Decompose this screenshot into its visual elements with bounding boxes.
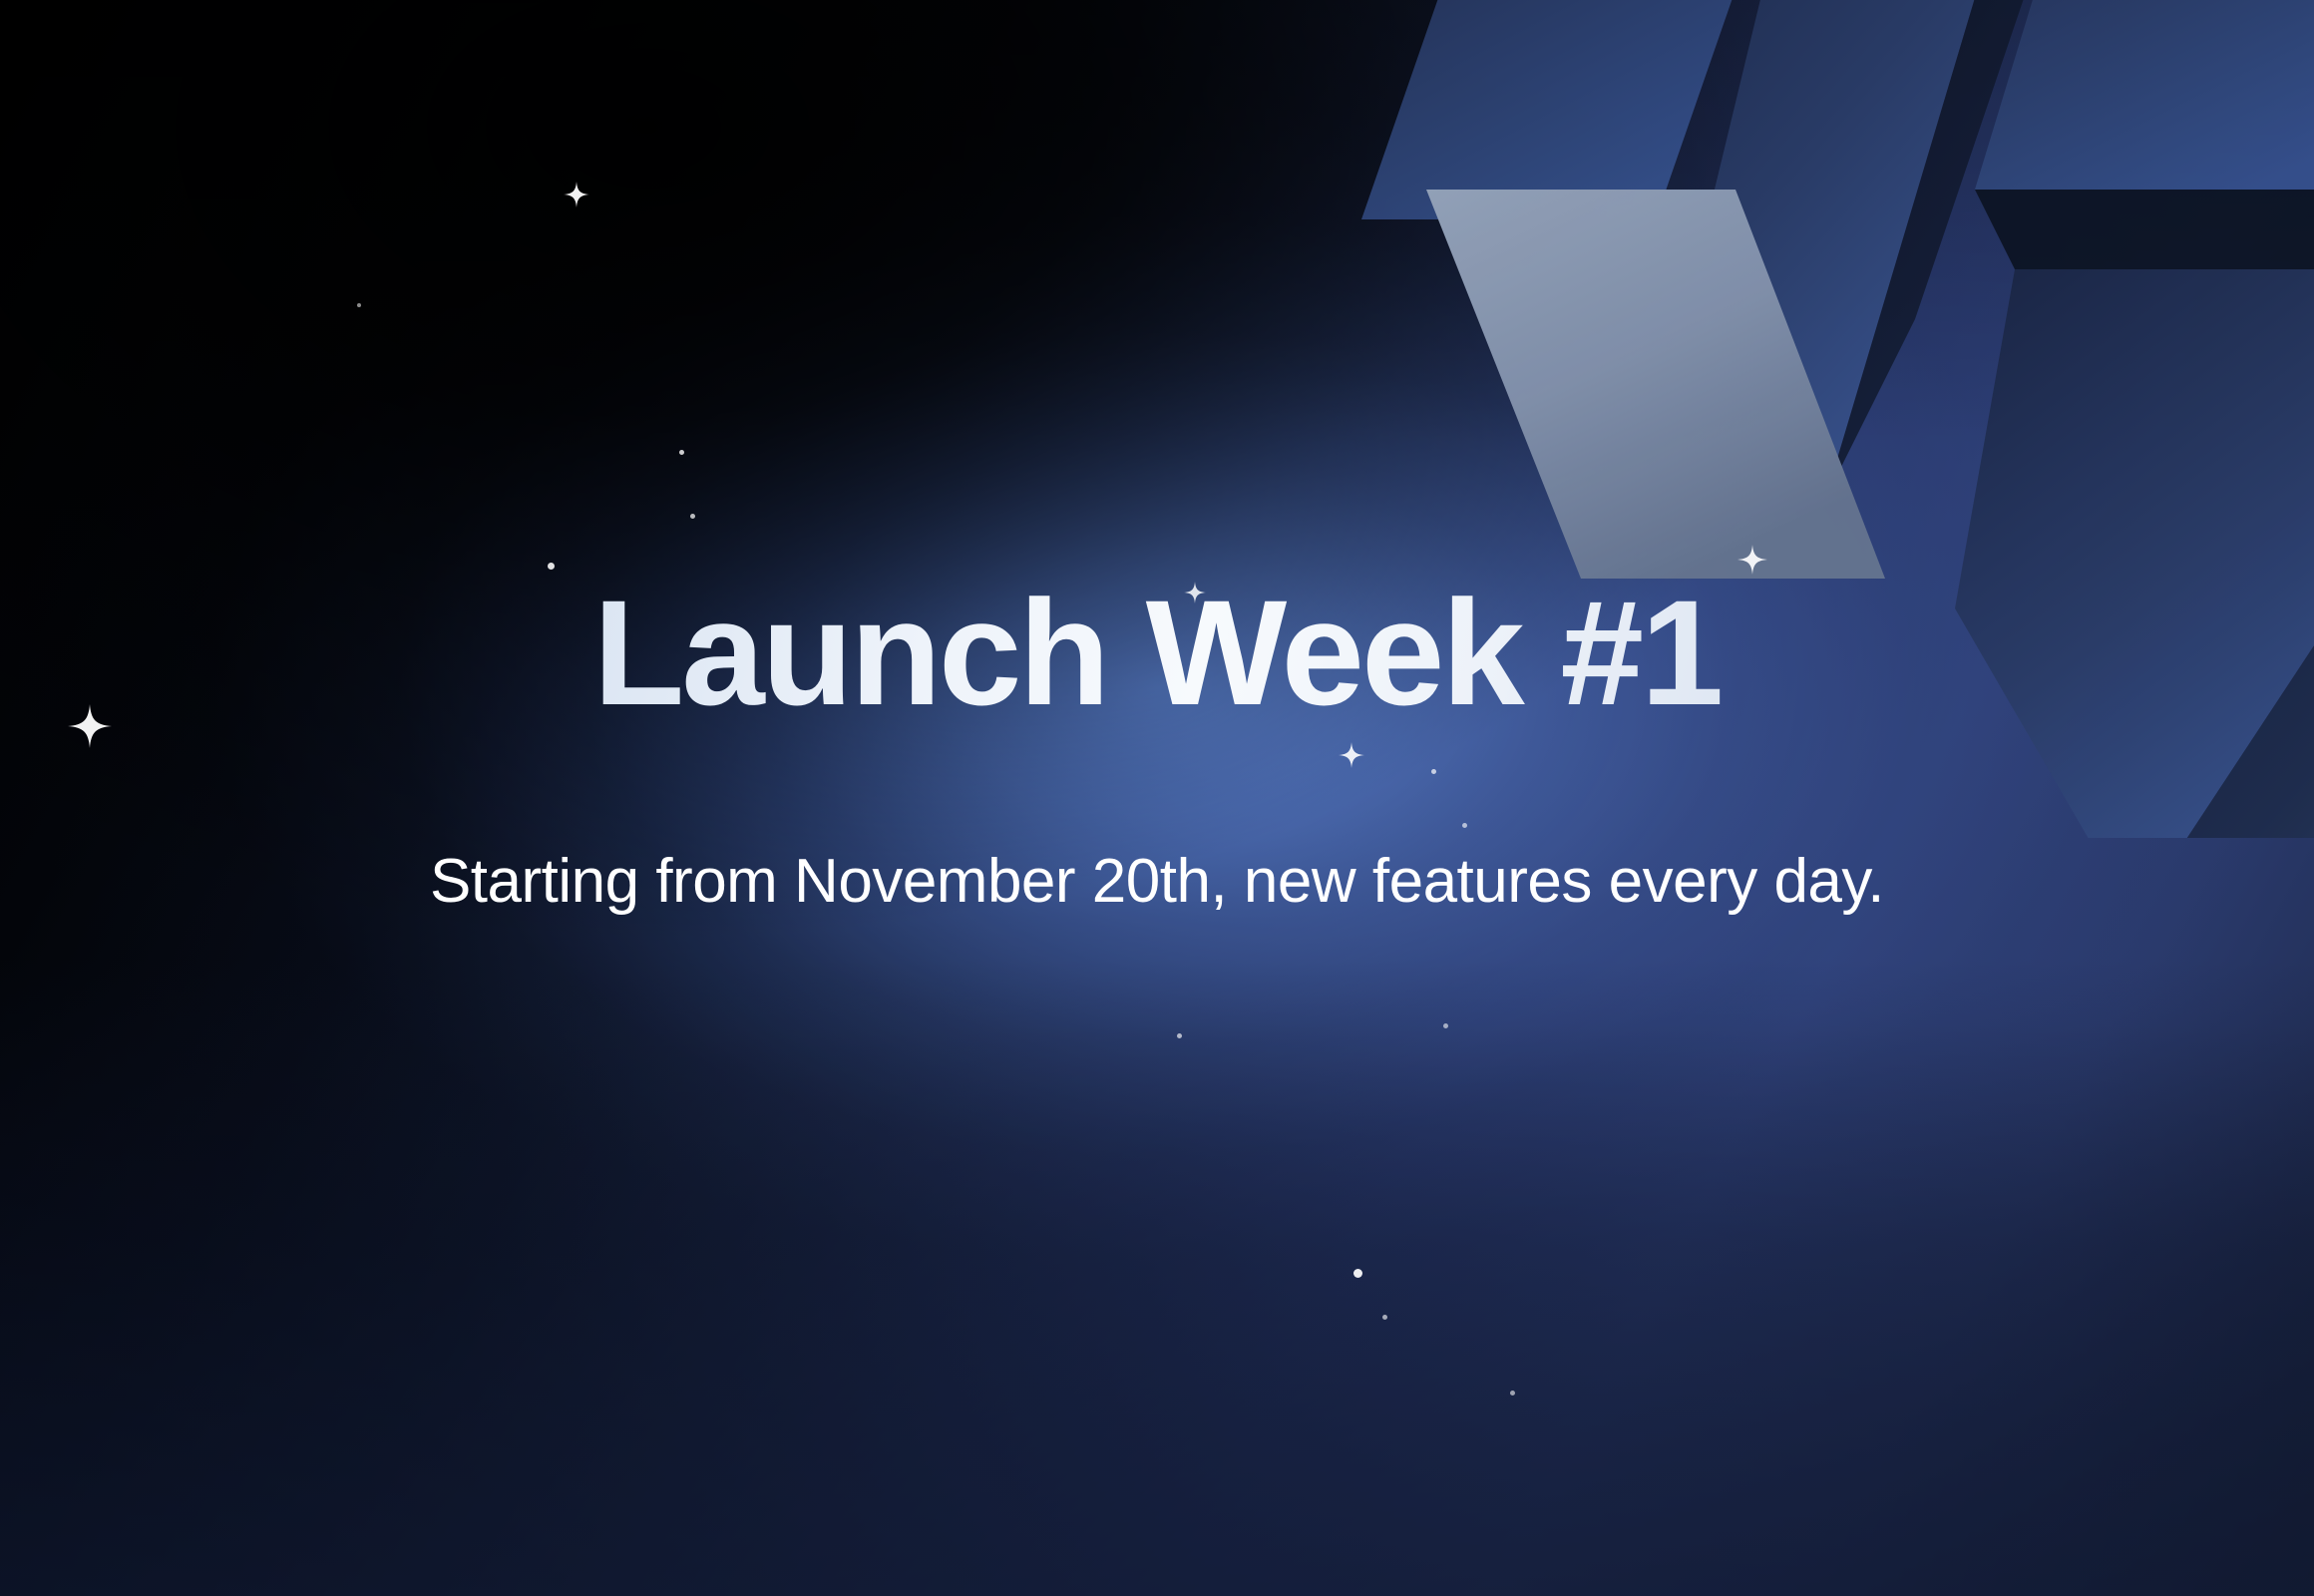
star-dot-icon [1443, 1023, 1448, 1028]
star-dot-icon [690, 514, 695, 519]
star-dot-icon [1510, 1391, 1515, 1396]
hero-subtitle: Starting from November 20th, new feature… [0, 843, 2314, 921]
star-dot-icon [548, 563, 555, 570]
page-title: Launch Week #1 [0, 574, 2314, 732]
star-dot-icon [1431, 769, 1436, 774]
star-dot-icon [357, 303, 361, 307]
sparkle-star-icon [1339, 742, 1364, 768]
star-dot-icon [1353, 1269, 1362, 1278]
star-dot-icon [1177, 1033, 1182, 1038]
star-dot-icon [1462, 823, 1467, 828]
launch-week-hero: Launch Week #1 Starting from November 20… [0, 0, 2314, 1596]
sparkle-star-icon [564, 182, 589, 207]
background-bottom-fade [0, 958, 2314, 1596]
star-dot-icon [1382, 1315, 1387, 1320]
sparkle-star-icon [1737, 545, 1767, 575]
star-dot-icon [679, 450, 684, 455]
